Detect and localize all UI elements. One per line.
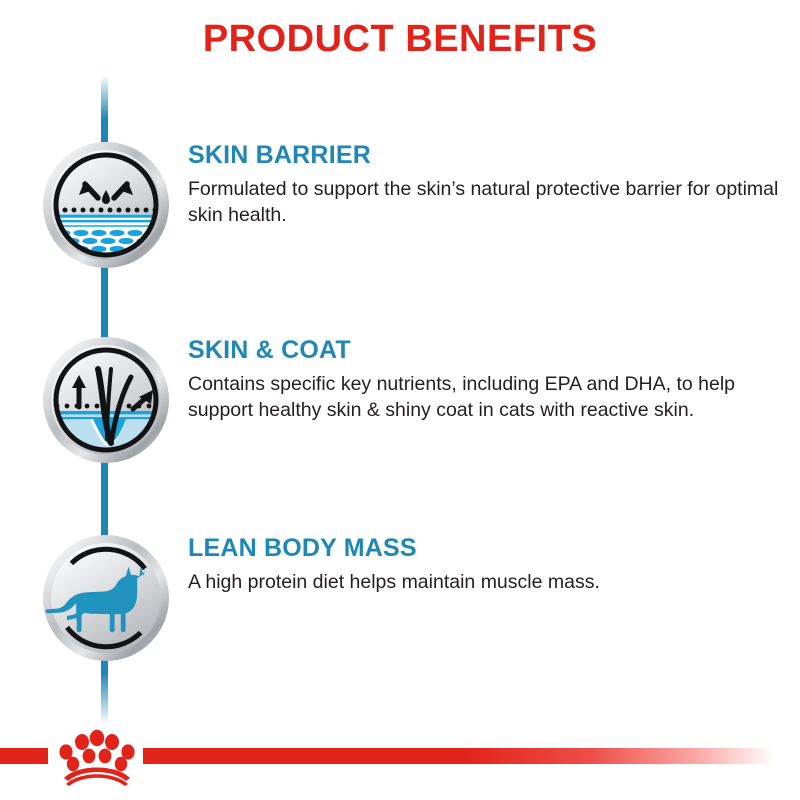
product-benefits-page: PRODUCT BENEFITS — [0, 0, 800, 800]
skin-and-coat-icon — [41, 335, 171, 465]
benefit-description: A high protein diet helps maintain muscl… — [188, 569, 788, 596]
benefit-heading: LEAN BODY MASS — [188, 535, 788, 563]
benefit-heading: SKIN & COAT — [188, 337, 788, 365]
benefit-text-block: LEAN BODY MASS A high protein diet helps… — [188, 535, 788, 595]
skin-barrier-icon — [41, 140, 171, 270]
page-title: PRODUCT BENEFITS — [0, 18, 800, 61]
benefit-heading: SKIN BARRIER — [188, 142, 788, 170]
benefit-text-block: SKIN & COAT Contains specific key nutrie… — [188, 337, 788, 424]
royal-canin-crown-logo — [52, 726, 142, 788]
lean-body-mass-cat-icon — [41, 533, 171, 663]
benefit-text-block: SKIN BARRIER Formulated to support the s… — [188, 142, 788, 229]
benefit-description: Formulated to support the skin’s natural… — [188, 176, 788, 230]
benefit-description: Contains specific key nutrients, includi… — [188, 371, 788, 425]
